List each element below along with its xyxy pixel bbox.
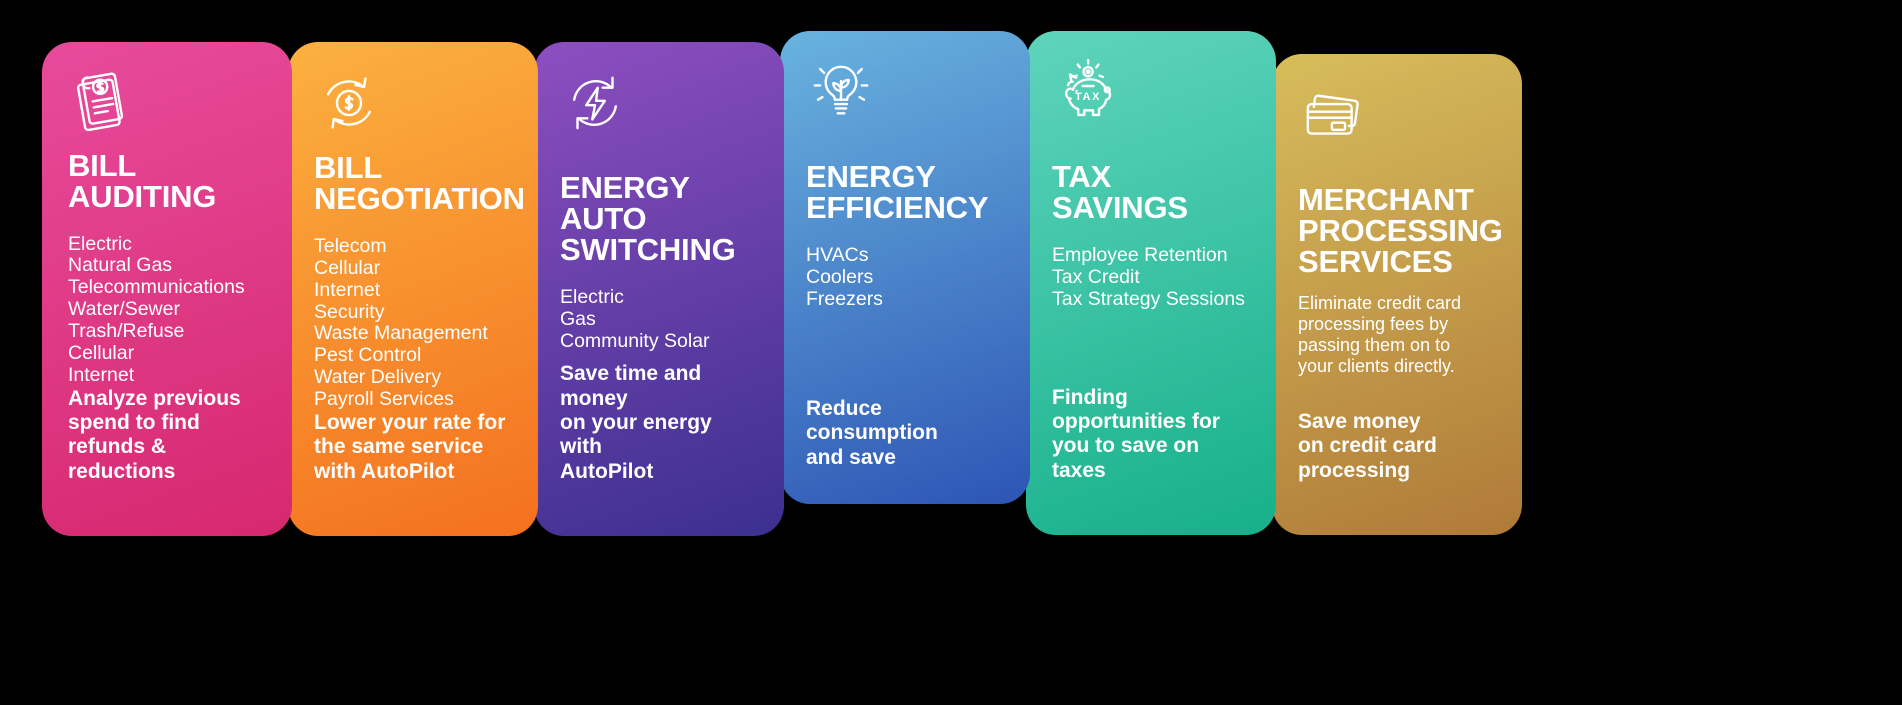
card-title: TAX SAVINGS — [1052, 161, 1250, 223]
card-service-list: TelecomCellularInternetSecurityWaste Man… — [314, 236, 512, 411]
card-icon-wrap — [1298, 80, 1496, 176]
service-list-item: Cellular — [314, 258, 512, 279]
flexible-spacer — [1052, 311, 1250, 386]
lightbulb-leaf-icon — [806, 57, 876, 127]
service-card-bill-negotiation[interactable]: BILL NEGOTIATIONTelecomCellularInternetS… — [288, 42, 538, 536]
card-title: ENERGY AUTO SWITCHING — [560, 172, 758, 265]
service-list-item: Freezers — [806, 289, 1004, 310]
service-list-item: Security — [314, 302, 512, 323]
card-title: ENERGY EFFICIENCY — [806, 161, 1004, 223]
piggy-bank-tax-icon: TAX — [1052, 57, 1122, 127]
card-title: MERCHANT PROCESSING SERVICES — [1298, 184, 1496, 277]
service-list-item: Water Delivery — [314, 367, 512, 388]
refresh-bolt-icon — [560, 68, 630, 138]
service-card-merchant-processing-services[interactable]: MERCHANT PROCESSING SERVICESEliminate cr… — [1272, 54, 1522, 535]
service-list-item: Coolers — [806, 267, 1004, 288]
service-card-bill-auditing[interactable]: BILL AUDITINGElectricNatural GasTelecomm… — [42, 42, 292, 536]
service-list-item: Tax Credit — [1052, 267, 1250, 288]
service-list-item: Trash/Refuse — [68, 321, 266, 342]
refresh-dollar-icon — [314, 68, 384, 138]
card-service-list: Employee RetentionTax CreditTax Strategy… — [1052, 245, 1250, 311]
card-icon-wrap — [560, 68, 758, 164]
card-title: BILL AUDITING — [68, 150, 266, 212]
service-list-item: Pest Control — [314, 345, 512, 366]
card-tagline: Save time and money on your energy with … — [560, 362, 758, 484]
service-list-item: Tax Strategy Sessions — [1052, 289, 1250, 310]
card-description: Eliminate credit card processing fees by… — [1298, 293, 1496, 377]
service-card-energy-auto-switching[interactable]: ENERGY AUTO SWITCHINGElectricGasCommunit… — [534, 42, 784, 536]
card-tagline: Finding opportunities for you to save on… — [1052, 386, 1250, 483]
card-tagline: Lower your rate for the same service wit… — [314, 411, 512, 484]
service-list-item: Waste Management — [314, 323, 512, 344]
service-list-item: Gas — [560, 309, 758, 330]
service-list-item: Internet — [314, 280, 512, 301]
service-card-energy-efficiency[interactable]: ENERGY EFFICIENCYHVACsCoolersFreezersRed… — [780, 31, 1030, 504]
service-list-item: Internet — [68, 365, 266, 386]
service-list-item: Natural Gas — [68, 255, 266, 276]
service-list-item: Electric — [560, 287, 758, 308]
card-icon-wrap: TAX — [1052, 57, 1250, 153]
card-tagline: Analyze previous spend to find refunds &… — [68, 387, 266, 484]
service-list-item: Cellular — [68, 343, 266, 364]
service-list-item: Telecommunications — [68, 277, 266, 298]
card-title: BILL NEGOTIATION — [314, 152, 512, 214]
card-icon-wrap — [68, 68, 266, 142]
card-service-list: HVACsCoolersFreezers — [806, 245, 1004, 311]
service-list-item: HVACs — [806, 245, 1004, 266]
service-list-item: Employee Retention — [1052, 245, 1250, 266]
service-list-item: Electric — [68, 234, 266, 255]
service-card-tax-savings[interactable]: TAX TAX SAVINGSEmployee RetentionTax Cre… — [1026, 31, 1276, 535]
card-service-list: ElectricNatural GasTelecommunicationsWat… — [68, 234, 266, 387]
card-tagline: Save money on credit card processing — [1298, 410, 1496, 483]
flexible-spacer — [560, 353, 758, 363]
service-list-item: Payroll Services — [314, 389, 512, 410]
service-list-item: Telecom — [314, 236, 512, 257]
service-list-item: Community Solar — [560, 331, 758, 352]
card-icon-wrap — [314, 68, 512, 144]
service-list-item: Water/Sewer — [68, 299, 266, 320]
flexible-spacer — [806, 311, 1004, 397]
flexible-spacer — [1298, 377, 1496, 410]
card-icon-wrap — [806, 57, 1004, 153]
card-tagline: Reduce consumption and save — [806, 397, 1004, 470]
invoice-dollar-icon — [68, 68, 138, 138]
infographic-card-row: BILL AUDITINGElectricNatural GasTelecomm… — [0, 0, 1902, 705]
card-service-list: ElectricGasCommunity Solar — [560, 287, 758, 353]
credit-cards-icon — [1298, 80, 1368, 150]
svg-text:TAX: TAX — [1075, 91, 1101, 103]
